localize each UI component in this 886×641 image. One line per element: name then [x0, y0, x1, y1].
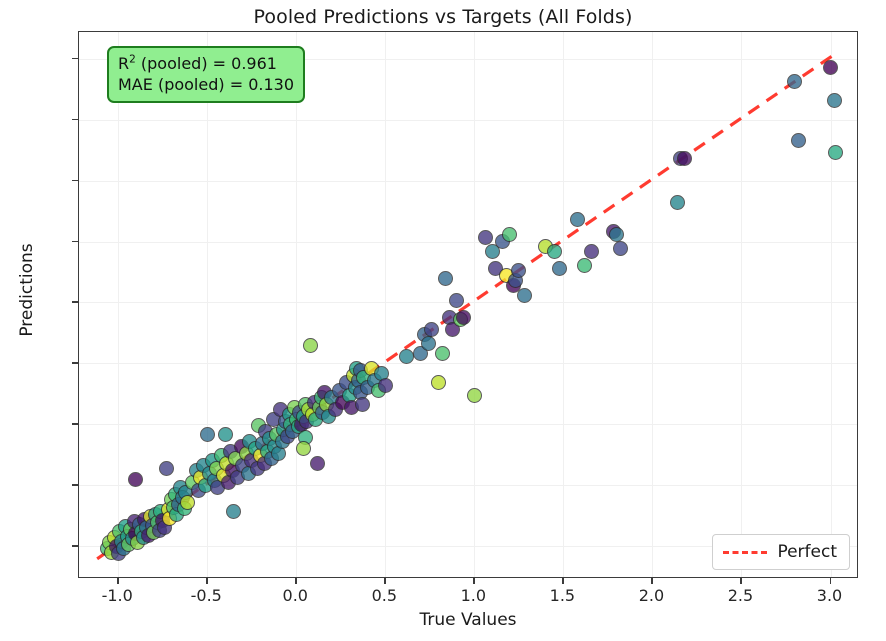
x-tick-label: 1.5 — [550, 586, 575, 605]
legend-dashed-line-swatch — [723, 551, 767, 554]
scatter-point — [435, 346, 450, 361]
x-tick-mark — [562, 578, 564, 584]
x-tick-mark — [384, 578, 386, 584]
r2-stat-line: R2 (pooled) = 0.961 — [118, 53, 294, 74]
x-tick-mark — [206, 578, 208, 584]
x-tick-label: 2.0 — [639, 586, 664, 605]
mae-stat-line: MAE (pooled) = 0.130 — [118, 74, 294, 95]
y-tick-mark — [72, 241, 78, 243]
y-tick-mark — [72, 545, 78, 547]
x-tick-label: 2.5 — [728, 586, 753, 605]
x-axis-label: True Values — [78, 610, 858, 630]
scatter-point — [467, 388, 482, 403]
scatter-point — [355, 397, 370, 412]
x-tick-label: 1.0 — [461, 586, 486, 605]
y-tick-mark — [72, 58, 78, 60]
scatter-point — [424, 322, 439, 337]
plot-area: R2 (pooled) = 0.961 MAE (pooled) = 0.130… — [78, 31, 858, 578]
scatter-point — [310, 456, 325, 471]
x-tick-mark — [117, 578, 119, 584]
x-tick-label: -0.5 — [191, 586, 222, 605]
x-tick-label: 3.0 — [817, 586, 842, 605]
x-tick-mark — [740, 578, 742, 584]
scatter-point — [456, 310, 471, 325]
scatter-point — [449, 293, 464, 308]
scatter-point — [159, 461, 174, 476]
scatter-point — [296, 441, 311, 456]
y-tick-mark — [72, 301, 78, 303]
legend[interactable]: Perfect — [712, 534, 850, 570]
y-tick-mark — [72, 484, 78, 486]
x-tick-mark — [651, 578, 653, 584]
scatter-point — [670, 195, 685, 210]
scatter-point — [200, 427, 215, 442]
scatter-point — [303, 338, 318, 353]
x-tick-label: 0.0 — [283, 586, 308, 605]
chart-title: Pooled Predictions vs Targets (All Folds… — [0, 6, 886, 28]
y-tick-mark — [72, 423, 78, 425]
stats-annotation-box: R2 (pooled) = 0.961 MAE (pooled) = 0.130 — [107, 46, 305, 103]
scatter-point — [438, 271, 453, 286]
scatter-point — [827, 93, 842, 108]
scatter-point — [823, 60, 838, 75]
r2-symbol: R — [118, 54, 129, 73]
x-tick-mark — [473, 578, 475, 584]
scatter-point — [218, 427, 233, 442]
scatter-point — [421, 336, 436, 351]
x-tick-label: 0.5 — [372, 586, 397, 605]
scatter-point — [791, 133, 806, 148]
legend-label-perfect: Perfect — [777, 542, 837, 562]
y-tick-mark — [72, 180, 78, 182]
r2-value-text: (pooled) = 0.961 — [136, 54, 277, 73]
x-tick-label: -1.0 — [102, 586, 133, 605]
x-tick-mark — [295, 578, 297, 584]
y-tick-mark — [72, 119, 78, 121]
scatter-point — [547, 244, 562, 259]
scatter-point — [517, 288, 532, 303]
x-tick-mark — [830, 578, 832, 584]
figure: Pooled Predictions vs Targets (All Folds… — [0, 0, 886, 641]
scatter-point — [378, 378, 393, 393]
scatter-point — [399, 349, 414, 364]
y-axis-label: Predictions — [17, 30, 37, 550]
y-tick-mark — [72, 362, 78, 364]
r2-exponent: 2 — [129, 54, 136, 66]
scatter-point — [609, 227, 624, 242]
scatter-point — [180, 495, 195, 510]
